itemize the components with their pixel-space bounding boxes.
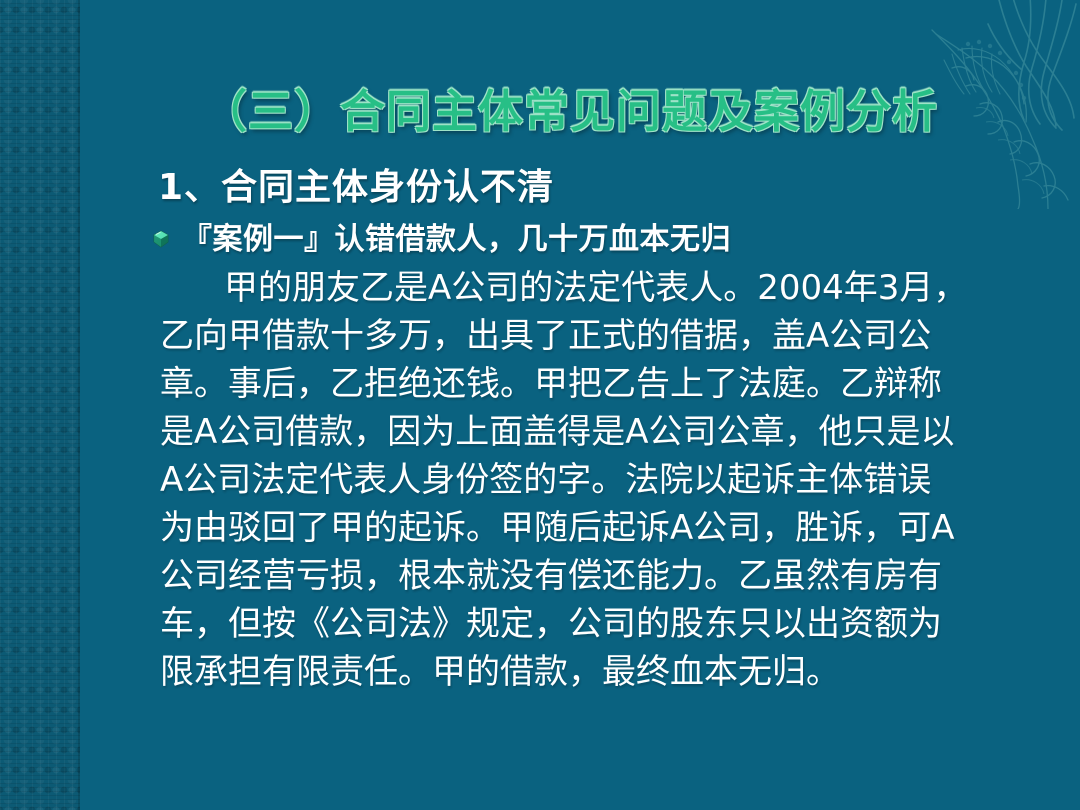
case-title: 『案例一』认错借款人，几十万血本无归 — [182, 214, 731, 258]
section-heading: 1、合同主体身份认不清 — [158, 158, 554, 210]
case-body-text: 甲的朋友乙是A公司的法定代表人。2004年3月， 乙向甲借款十多万，出具了正式的… — [160, 264, 1056, 696]
body-line: 乙向甲借款十多万，出具了正式的借据，盖A公司公 — [160, 312, 1056, 360]
presentation-slide: （三）合同主体常见问题及案例分析 1、合同主体身份认不清 『案例一』认 — [0, 0, 1080, 810]
body-line: 限承担有限责任。甲的借款，最终血本无归。 — [160, 648, 1056, 696]
case-title-row: 『案例一』认错借款人，几十万血本无归 — [150, 214, 731, 258]
body-line: 车，但按《公司法》规定，公司的股东只以出资额为 — [160, 600, 1056, 648]
body-line: 为由驳回了甲的起诉。甲随后起诉A公司，胜诉，可A — [160, 504, 1056, 552]
slide-title: （三）合同主体常见问题及案例分析 — [0, 88, 1080, 135]
body-line: 甲的朋友乙是A公司的法定代表人。2004年3月， — [160, 264, 1056, 312]
green-gem-bullet-icon — [150, 228, 172, 250]
body-line: 章。事后，乙拒绝还钱。甲把乙告上了法庭。乙辩称 — [160, 360, 1056, 408]
body-line: 公司经营亏损，根本就没有偿还能力。乙虽然有房有 — [160, 552, 1056, 600]
body-line: 是A公司借款，因为上面盖得是A公司公章，他只是以 — [160, 408, 1056, 456]
body-line: A公司法定代表人身份签的字。法院以起诉主体错误 — [160, 456, 1056, 504]
